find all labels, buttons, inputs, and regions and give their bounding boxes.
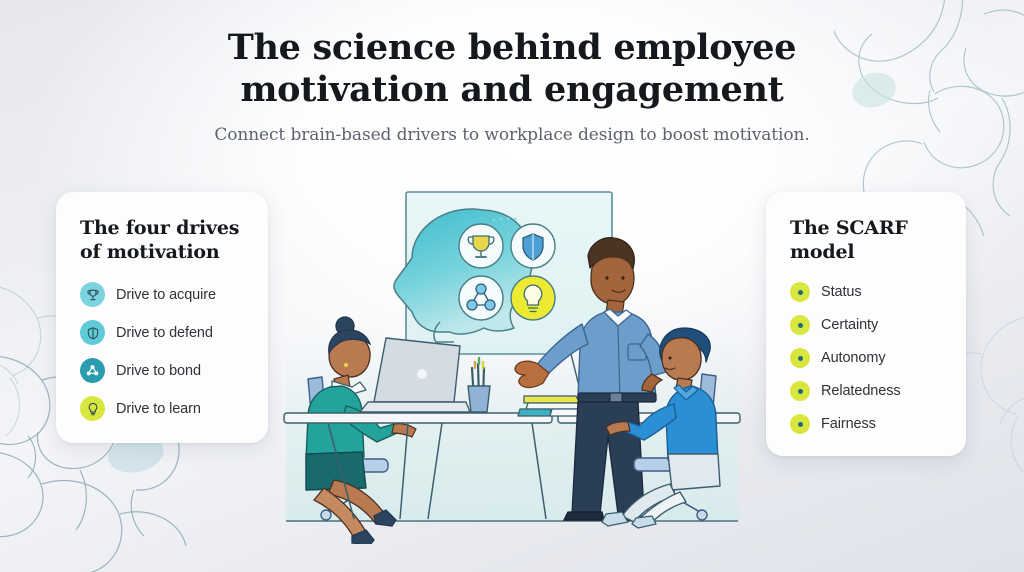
bullet-dot-icon [790,315,810,335]
list-item-label: Drive to learn [116,401,201,417]
four-drives-card: The four drives of motivation Drive to a… [56,192,268,443]
illustration [282,182,742,544]
shield-icon [80,320,105,345]
page-title: The science behind employee motivation a… [192,27,832,111]
list-item-label: Status [821,284,862,300]
list-item-label: Relatedness [821,383,901,399]
list-item-label: Drive to bond [116,363,201,379]
list-item-relatedness[interactable]: Relatedness [790,381,946,401]
whiteboard-trophy-icon [459,224,503,268]
list-item-label: Autonomy [821,350,886,366]
list-item-drive-to-bond[interactable]: Drive to bond [80,358,248,383]
list-item-drive-to-defend[interactable]: Drive to defend [80,320,248,345]
scarf-model-list: Status Certainty Autonomy Relatedness Fa… [790,282,946,434]
whiteboard-lightbulb-icon [511,276,555,320]
page-subtitle: Connect brain-based drivers to workplace… [0,125,1024,145]
header: The science behind employee motivation a… [0,0,1024,145]
list-item-label: Certainty [821,317,878,333]
four-drives-list: Drive to acquire Drive to defend [80,282,248,421]
list-item-drive-to-acquire[interactable]: Drive to acquire [80,282,248,307]
bullet-dot-icon [790,381,810,401]
list-item-status[interactable]: Status [790,282,946,302]
slide-canvas: The science behind employee motivation a… [0,0,1024,572]
bullet-dot-icon [790,414,810,434]
bullet-dot-icon [790,348,810,368]
list-item-label: Drive to defend [116,325,213,341]
list-item-label: Fairness [821,416,876,432]
list-item-drive-to-learn[interactable]: Drive to learn [80,396,248,421]
scarf-model-card-title: The SCARF model [790,216,946,264]
whiteboard-shield-icon [511,224,555,268]
four-drives-card-title: The four drives of motivation [80,216,248,264]
scarf-model-card: The SCARF model Status Certainty Autonom… [766,192,966,456]
list-item-certainty[interactable]: Certainty [790,315,946,335]
office-meeting-illustration [282,182,742,544]
trophy-icon [80,282,105,307]
bullet-dot-icon [790,282,810,302]
list-item-autonomy[interactable]: Autonomy [790,348,946,368]
list-item-fairness[interactable]: Fairness [790,414,946,434]
lightbulb-icon [80,396,105,421]
whiteboard-bond-icon [459,276,503,320]
list-item-label: Drive to acquire [116,287,216,303]
bond-icon [80,358,105,383]
